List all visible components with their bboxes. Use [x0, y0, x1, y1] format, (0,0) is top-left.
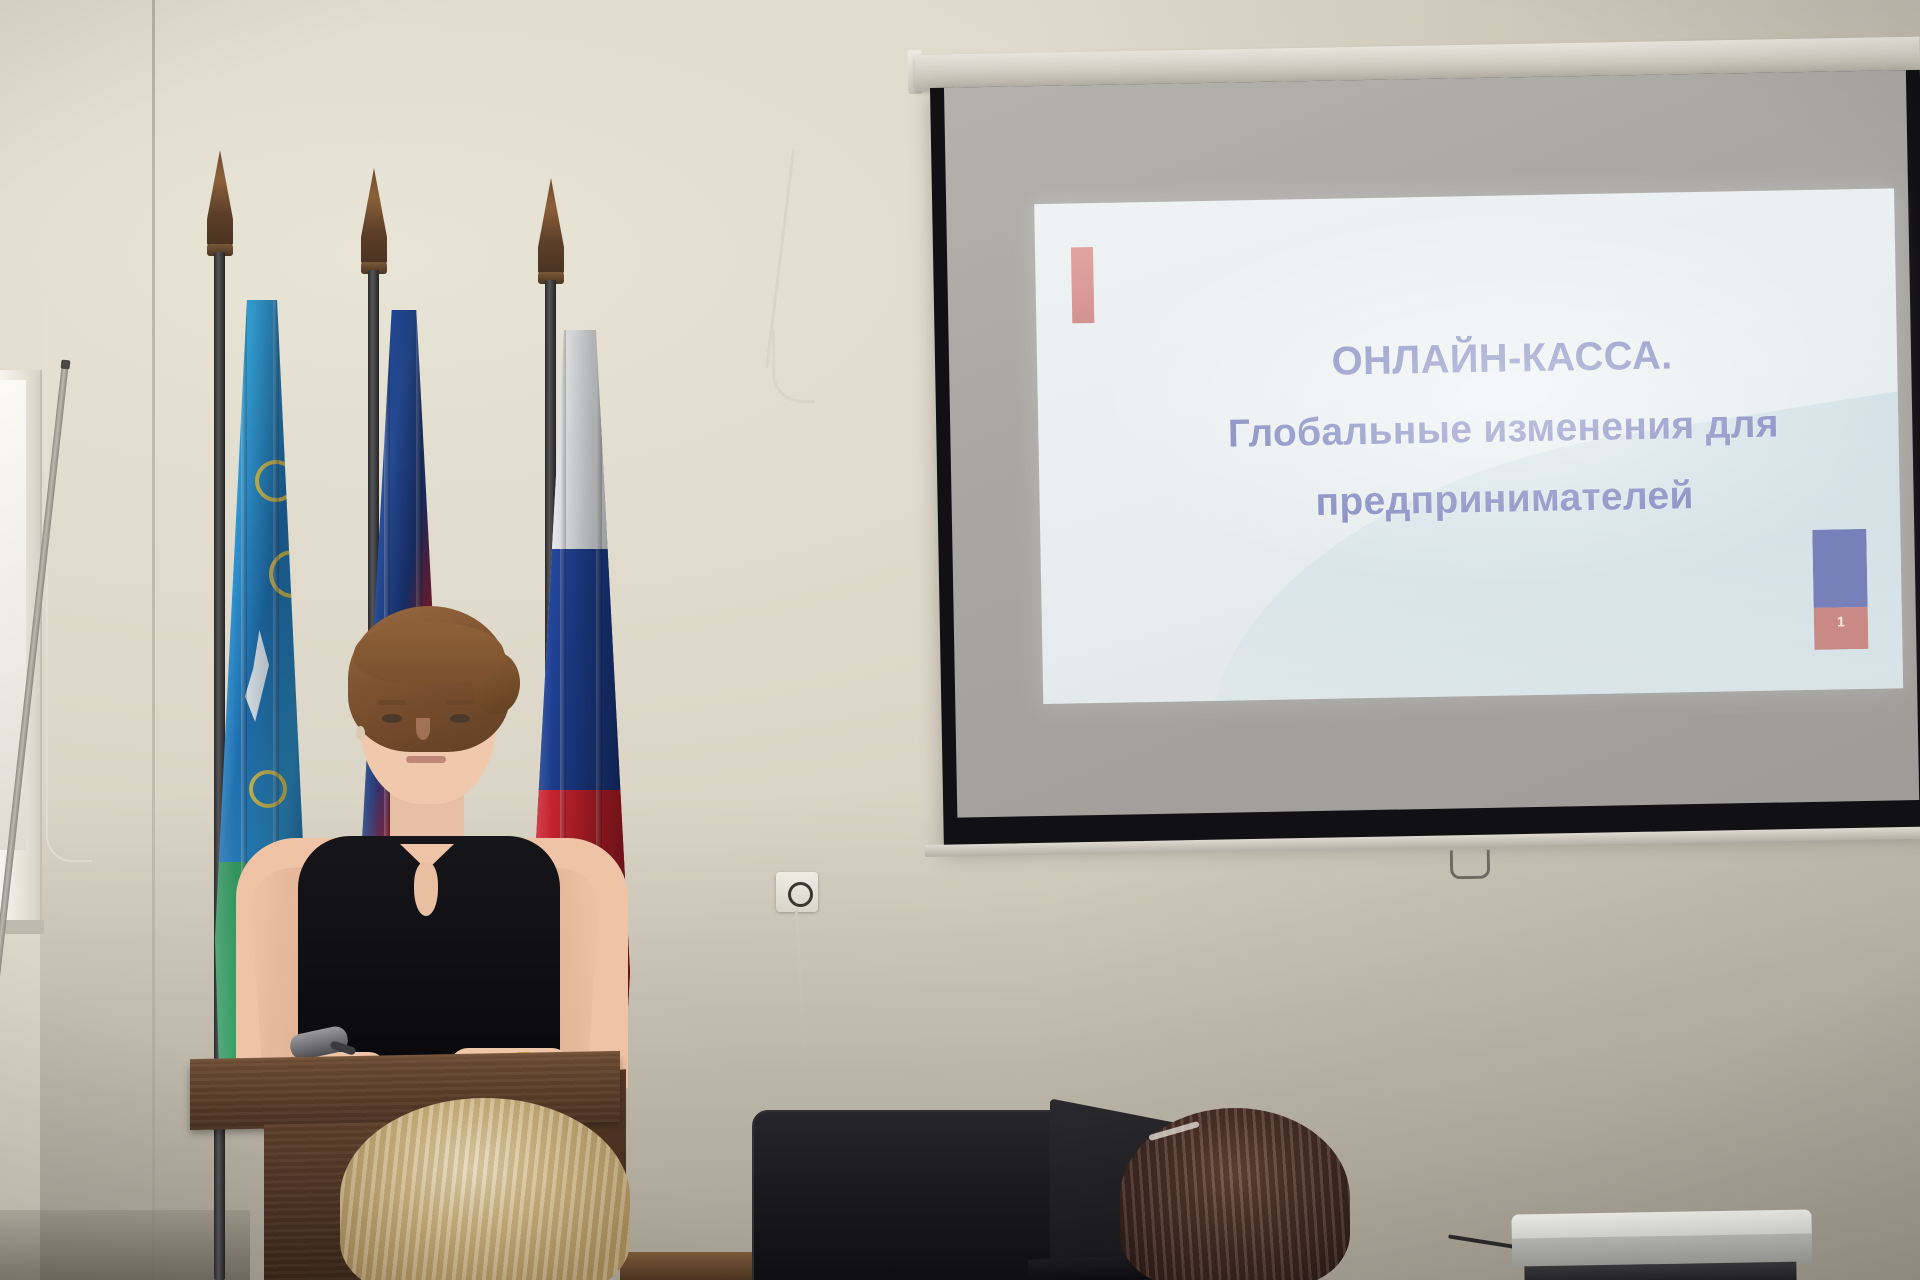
flag-finial-icon-left [207, 150, 233, 246]
slide-corner-decoration: 1 [1812, 529, 1868, 650]
slide-corner-blue-block [1812, 529, 1867, 608]
flag-finial-icon-center [361, 168, 387, 264]
presenter-mouth [406, 756, 446, 763]
wall-socket-hole-icon [788, 882, 813, 907]
slide-number: 1 [1814, 613, 1868, 630]
presenter-earring [356, 726, 365, 740]
presenter-eye-right [450, 714, 470, 723]
presenter-dress-keyhole [414, 862, 438, 916]
slide-title-block: ОНЛАЙН-КАССА. Глобальные изменения для п… [1106, 316, 1900, 540]
presenter-brow-left [378, 700, 406, 705]
projection-screen-surface: ОНЛАЙН-КАССА. Глобальные изменения для п… [944, 70, 1919, 818]
presenter-fringe [354, 622, 504, 684]
screen-pull-hook-icon[interactable] [1450, 850, 1491, 880]
slide-accent-bar [1071, 247, 1094, 323]
projection-screen: ОНЛАЙН-КАССА. Глобальные изменения для п… [930, 70, 1920, 848]
projector-device [1511, 1209, 1812, 1280]
presenter-nose [416, 718, 430, 740]
office-chair-back [752, 1110, 1076, 1280]
presentation-photo-scene: ОНЛАЙН-КАССА. Глобальные изменения для п… [0, 0, 1920, 1280]
flag-finial-icon-right [538, 178, 564, 274]
presenter-brow-right [446, 700, 474, 705]
slide-title-line-3: предпринимателей [1109, 457, 1900, 541]
projected-slide: ОНЛАЙН-КАССА. Глобальные изменения для п… [1034, 188, 1903, 704]
presenter-figure [250, 600, 610, 1080]
presenter-eye-left [382, 714, 402, 723]
